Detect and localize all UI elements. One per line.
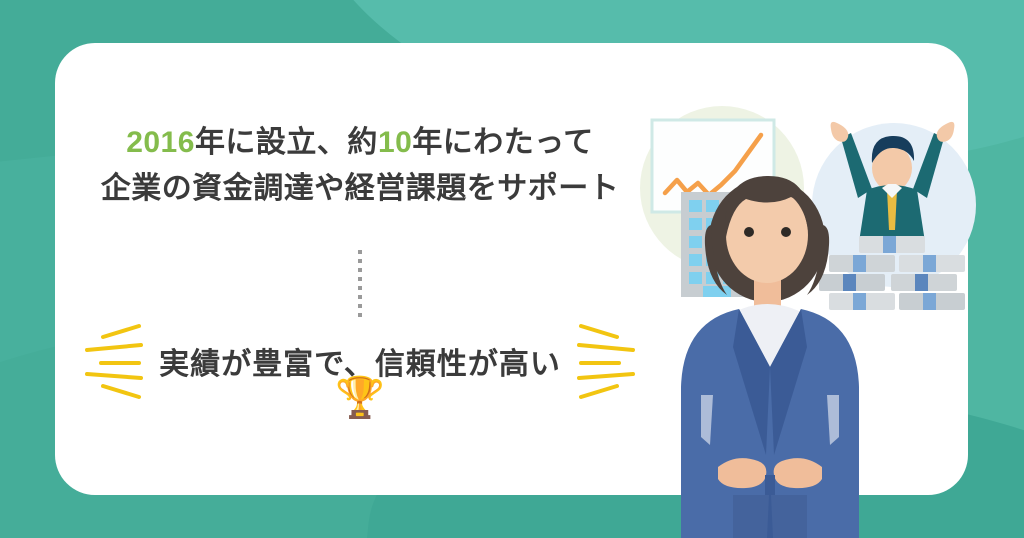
separator-dot [358,259,362,263]
separator-dot [358,295,362,299]
headline-year-2016: 2016 [126,126,195,159]
banner-stage: 2016年に設立、約10年にわたって 企業の資金調達や経営課題をサポート 実績が… [0,0,1024,538]
trophy-icon: 🏆 [55,378,665,418]
headline-line1-part2: 年に設立、約 [195,126,378,159]
separator-dot [358,313,362,317]
dotted-separator [55,250,665,317]
headline-line-1: 2016年に設立、約10年にわたって [55,120,665,166]
illustration-group [615,75,1024,538]
separator-dot [358,304,362,308]
separator-dot [358,250,362,254]
separator-dot [358,268,362,272]
headline-line-2: 企業の資金調達や経営課題をサポート [55,166,665,212]
separator-dot [358,277,362,281]
separator-dot [358,286,362,290]
headline-block: 2016年に設立、約10年にわたって 企業の資金調達や経営課題をサポート [55,120,665,211]
headline-years-10: 10 [378,126,412,159]
headline-line1-part4: 年にわたって [412,126,594,159]
